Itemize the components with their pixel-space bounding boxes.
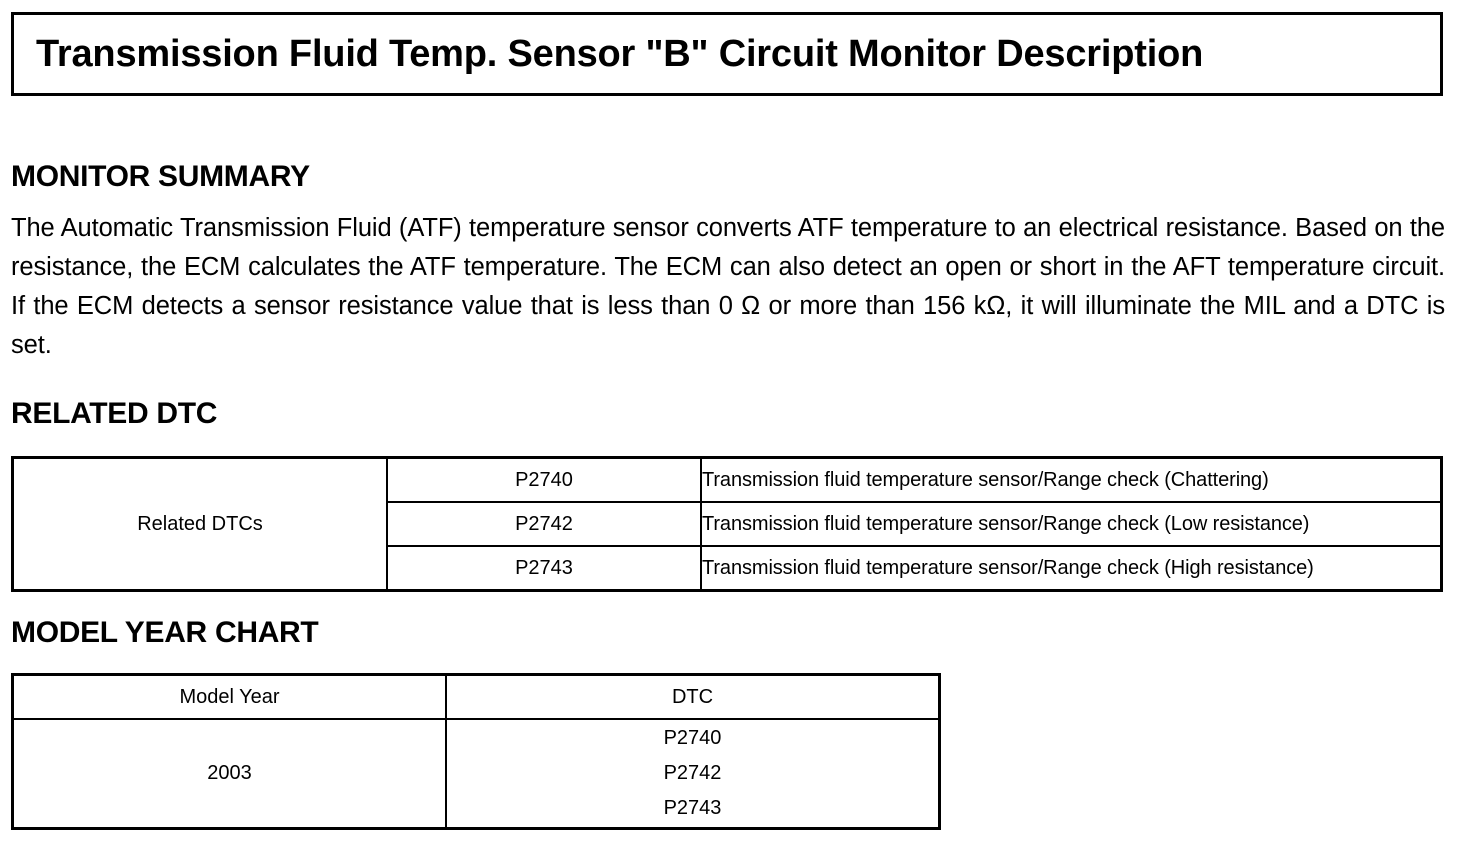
table-row: Related DTCs P2740 Transmission fluid te… (13, 458, 1442, 503)
dtc-list-item: P2742 (447, 756, 938, 791)
model-year-chart-table: Model Year DTC 2003 P2740 P2742 P2743 (11, 673, 941, 830)
column-header-dtc: DTC (446, 675, 940, 720)
dtc-description-cell: Transmission fluid temperature sensor/Ra… (701, 502, 1442, 546)
dtc-code-cell: P2742 (387, 502, 701, 546)
section-heading-monitor-summary: MONITOR SUMMARY (11, 160, 310, 194)
dtc-code-cell: P2743 (387, 546, 701, 591)
dtc-list-item: P2740 (447, 721, 938, 756)
related-dtcs-label-cell: Related DTCs (13, 458, 388, 591)
monitor-summary-paragraph: The Automatic Transmission Fluid (ATF) t… (11, 209, 1445, 404)
model-year-value-cell: 2003 (13, 719, 447, 829)
column-header-model-year: Model Year (13, 675, 447, 720)
dtc-description-cell: Transmission fluid temperature sensor/Ra… (701, 546, 1442, 591)
related-dtc-table: Related DTCs P2740 Transmission fluid te… (11, 456, 1443, 592)
page-title: Transmission Fluid Temp. Sensor "B" Circ… (14, 33, 1203, 76)
dtc-code-cell: P2740 (387, 458, 701, 503)
dtc-description-cell: Transmission fluid temperature sensor/Ra… (701, 458, 1442, 503)
model-year-dtc-list-cell: P2740 P2742 P2743 (446, 719, 940, 829)
dtc-list-item: P2743 (447, 791, 938, 826)
section-heading-related-dtc: RELATED DTC (11, 397, 217, 431)
table-header-row: Model Year DTC (13, 675, 940, 720)
table-row: 2003 P2740 P2742 P2743 (13, 719, 940, 829)
section-heading-model-year-chart: MODEL YEAR CHART (11, 616, 318, 650)
document-title-box: Transmission Fluid Temp. Sensor "B" Circ… (11, 12, 1443, 96)
